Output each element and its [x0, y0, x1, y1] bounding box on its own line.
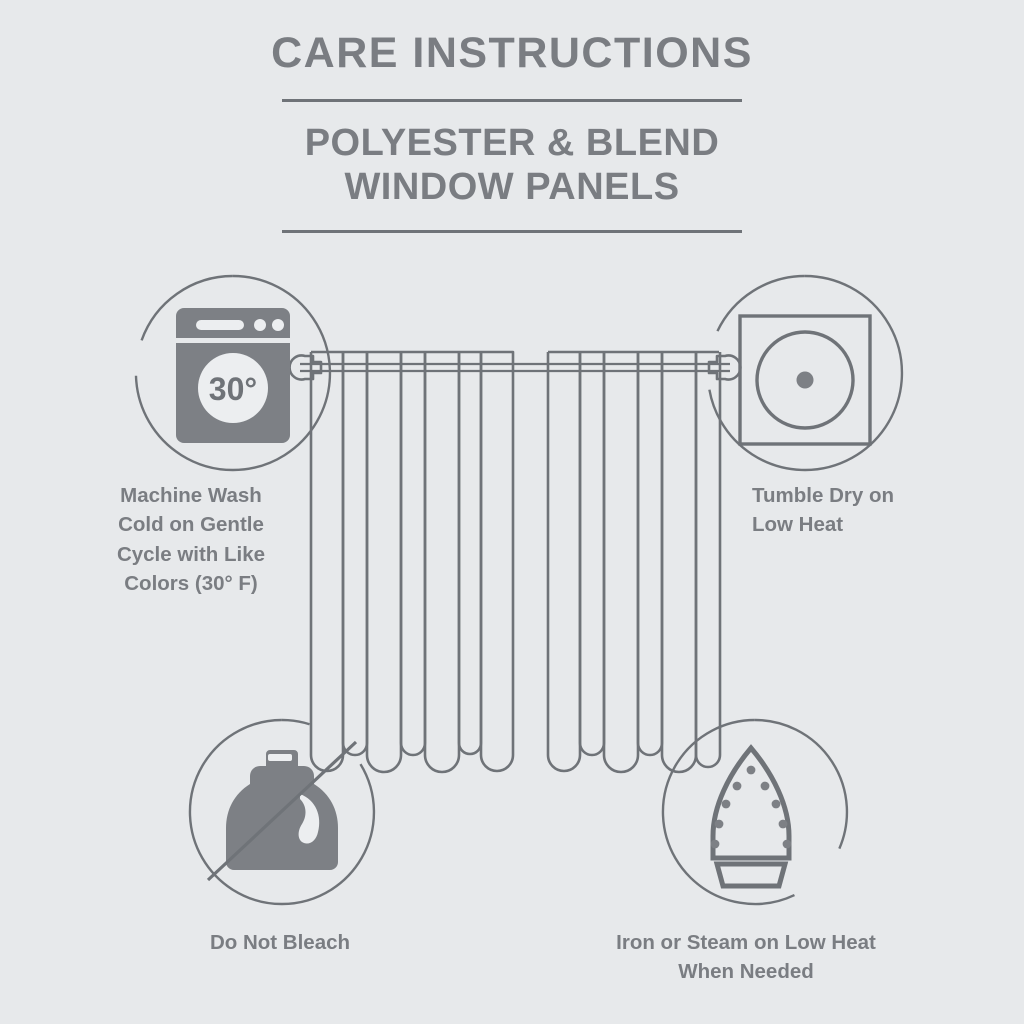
steam-holes — [711, 766, 792, 849]
caption-line: Iron or Steam on Low Heat — [616, 931, 876, 954]
iron-base — [717, 864, 785, 886]
tumble-dry-caption: Tumble Dry on Low Heat — [752, 481, 982, 540]
left-curtain-panel — [311, 352, 513, 772]
page-title: CARE INSTRUCTIONS — [0, 30, 1024, 77]
curtain-rod — [300, 364, 730, 371]
caption-line: Cycle with Like — [117, 543, 265, 566]
no-bleach-icon — [208, 742, 356, 880]
caption-line: Cold on Gentle — [118, 513, 264, 536]
right-curtain-panel — [548, 352, 720, 772]
tumble-dry-icon-group — [700, 268, 910, 478]
dial-right — [272, 319, 284, 331]
heat-level-dot — [797, 372, 814, 389]
machine-wash-caption: Machine Wash Cold on Gentle Cycle with L… — [60, 481, 322, 598]
care-instructions-infographic: CARE INSTRUCTIONS POLYESTER & BLEND WIND… — [0, 0, 1024, 1024]
bottle-cap-slot — [268, 754, 292, 761]
machine-wash-icon-group: 30° — [128, 268, 338, 478]
iron-icon-group — [655, 712, 855, 912]
caption-line: Do Not Bleach — [210, 931, 350, 954]
subtitle-line-2: WINDOW PANELS — [344, 166, 679, 208]
wash-temperature-label: 30° — [209, 371, 257, 407]
tumble-dry-low-icon — [740, 316, 870, 444]
divider-top — [282, 99, 742, 102]
iron-ring — [663, 720, 847, 904]
dial-left — [254, 319, 266, 331]
header-block: CARE INSTRUCTIONS POLYESTER & BLEND WIND… — [0, 30, 1024, 233]
do-not-bleach-caption: Do Not Bleach — [150, 928, 410, 957]
caption-line: Machine Wash — [120, 484, 262, 507]
iron-steam-icon — [711, 748, 792, 886]
subtitle-line-1: POLYESTER & BLEND — [305, 122, 720, 164]
washing-machine-icon: 30° — [176, 308, 290, 443]
caption-line: When Needed — [678, 960, 814, 983]
caption-line: Colors (30° F) — [124, 572, 258, 595]
detergent-drawer — [196, 320, 244, 330]
subtitle: POLYESTER & BLEND WINDOW PANELS — [0, 122, 1024, 209]
divider-bottom — [282, 230, 742, 233]
iron-caption: Iron or Steam on Low Heat When Needed — [565, 928, 927, 987]
caption-line: Low Heat — [752, 513, 843, 536]
caption-line: Tumble Dry on — [752, 484, 894, 507]
do-not-bleach-icon-group — [182, 712, 382, 912]
